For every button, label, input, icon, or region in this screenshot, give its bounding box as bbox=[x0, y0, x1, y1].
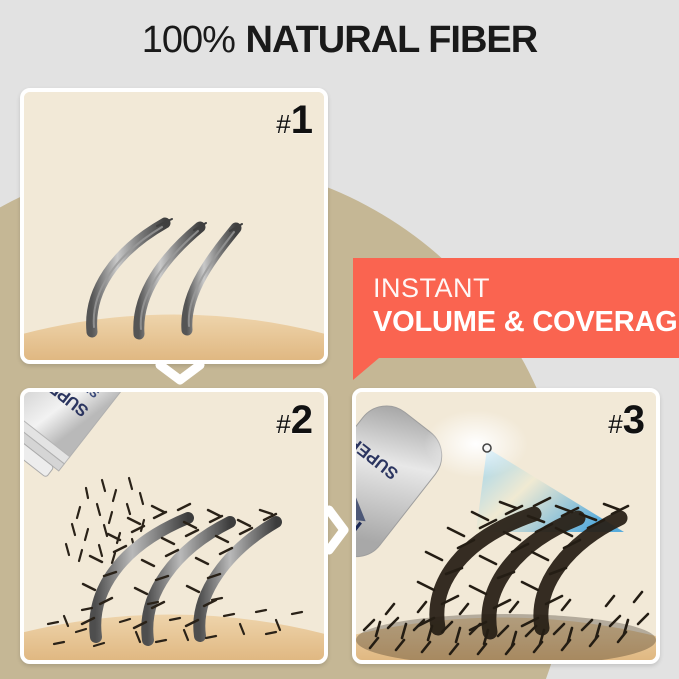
infographic-canvas: 100% NATURAL FIBER bbox=[0, 0, 679, 679]
panel-step-2: SUPER MIL SUPER MIL bbox=[20, 388, 328, 664]
banner-tail bbox=[353, 358, 379, 380]
panel-step-3: SUPER HAIR bbox=[352, 388, 660, 664]
panel-step-1: #1 bbox=[20, 88, 328, 364]
page-title: 100% NATURAL FIBER bbox=[0, 18, 679, 62]
promo-banner: INSTANT VOLUME & COVERAGE bbox=[353, 258, 679, 358]
chevron-right-icon bbox=[320, 500, 352, 560]
panel-1-number: #1 bbox=[276, 100, 312, 140]
banner-line-2: VOLUME & COVERAGE bbox=[373, 304, 679, 340]
panel-3-number: #3 bbox=[608, 400, 644, 440]
title-main: NATURAL FIBER bbox=[246, 19, 538, 61]
chevron-down-icon bbox=[150, 358, 210, 388]
banner-line-1: INSTANT bbox=[373, 272, 679, 304]
title-prefix: 100% bbox=[142, 19, 235, 61]
panel-2-number: #2 bbox=[276, 400, 312, 440]
